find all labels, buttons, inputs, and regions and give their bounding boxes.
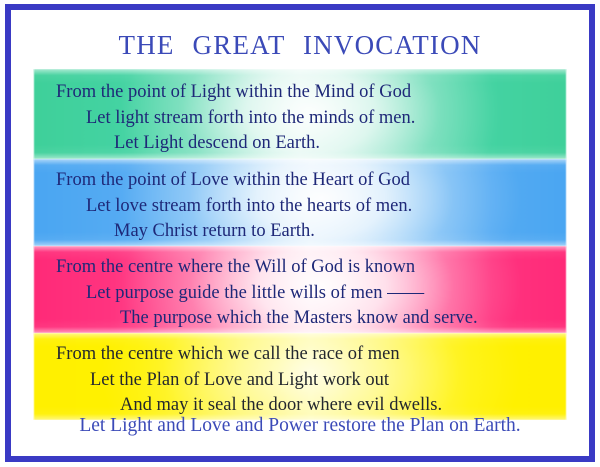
verse-line: From the centre which we call the race o… [56,342,578,368]
verse-lines-humanity: From the centre which we call the race o… [22,333,578,420]
verse-line: Let Light descend on Earth. [56,131,578,157]
page-title: THE GREAT INVOCATION [22,30,578,61]
verse-line: From the point of Love within the Heart … [56,168,578,194]
verse-lines-light: From the point of Light within the Mind … [22,69,578,159]
verse-stack: From the point of Light within the Mind … [22,69,578,421]
verse-lines-will: From the centre where the Will of God is… [22,246,578,333]
verse-block-humanity: From the centre which we call the race o… [22,333,578,420]
verse-block-love: From the point of Love within the Heart … [22,159,578,246]
poster-inner-area: THE GREAT INVOCATION From the point of L… [22,20,578,445]
verse-line: Let love stream forth into the hearts of… [56,194,578,220]
verse-block-light: From the point of Light within the Mind … [22,69,578,159]
verse-line: From the centre where the Will of God is… [56,255,578,281]
verse-line: May Christ return to Earth. [56,219,578,245]
verse-line: The purpose which the Masters know and s… [56,306,578,332]
verse-line: Let purpose guide the little wills of me… [56,281,578,307]
verse-line: From the point of Light within the Mind … [56,80,578,106]
great-invocation-poster: THE GREAT INVOCATION From the point of L… [0,0,600,467]
poster-border-frame: THE GREAT INVOCATION From the point of L… [5,4,595,462]
verse-line: Let light stream forth into the minds of… [56,106,578,132]
closing-line: Let Light and Love and Power restore the… [22,415,578,437]
verse-line: Let the Plan of Love and Light work out [56,368,578,394]
verse-lines-love: From the point of Love within the Heart … [22,159,578,246]
verse-block-will: From the centre where the Will of God is… [22,246,578,333]
